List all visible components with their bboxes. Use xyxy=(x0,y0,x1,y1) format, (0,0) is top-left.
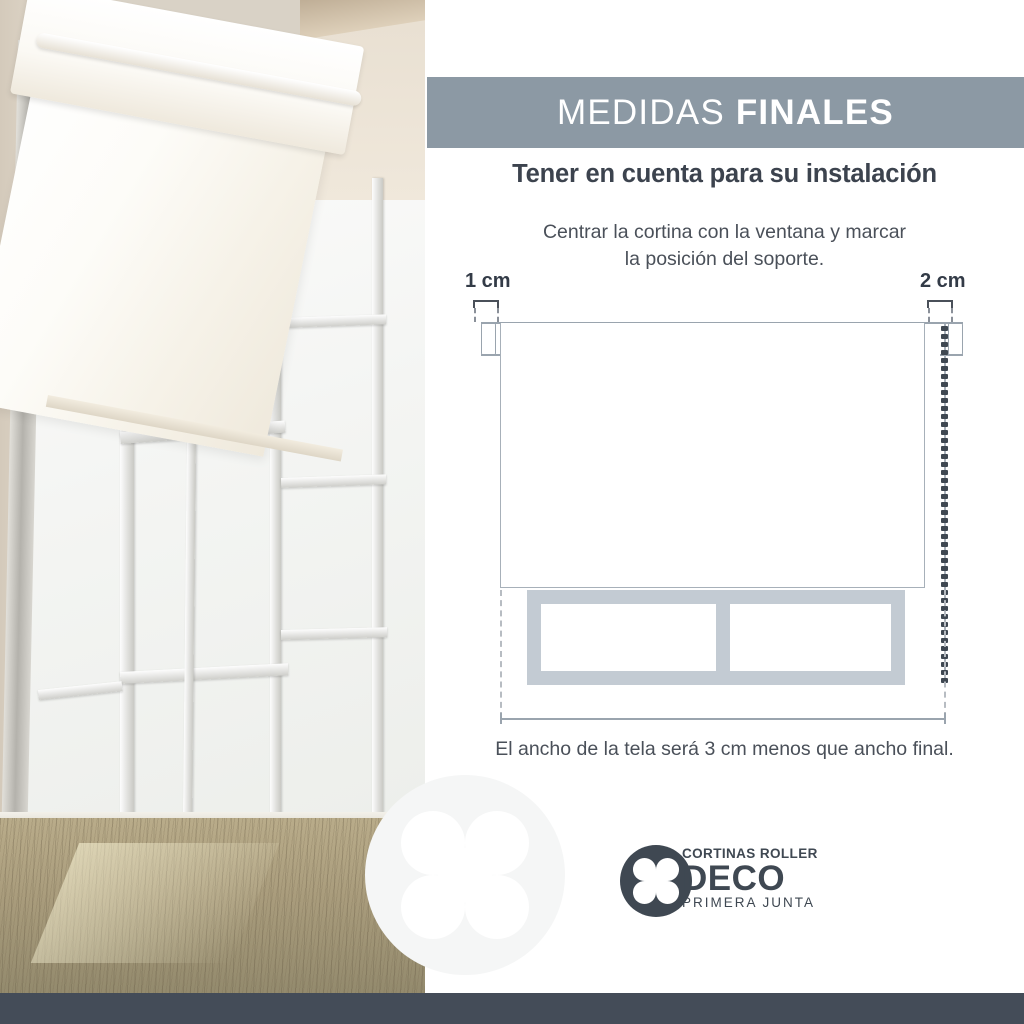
bracket-left-icon xyxy=(481,322,496,356)
footer-caption: El ancho de la tela será 3 cm menos que … xyxy=(425,738,1024,761)
extent-line-right xyxy=(944,590,946,718)
promo-card: MEDIDAS FINALES Tener en cuenta para su … xyxy=(0,0,1024,1024)
photo-floor-sunlight xyxy=(31,843,279,963)
title-light-part: MEDIDAS xyxy=(557,93,725,132)
info-panel: MEDIDAS FINALES Tener en cuenta para su … xyxy=(425,0,1024,993)
logo-line-main: DECO xyxy=(682,861,837,897)
dimension-tick-left xyxy=(473,300,499,308)
page-title: MEDIDAS FINALES xyxy=(557,93,894,133)
photo-floor xyxy=(0,818,425,993)
subtitle: Tener en cuenta para su instalación xyxy=(425,160,1024,189)
lead-line-1: Centrar la cortina con la ventana y marc… xyxy=(425,219,1024,246)
overall-width-tick-left xyxy=(500,713,502,724)
product-photo xyxy=(0,0,425,993)
brand-logo: CORTINAS ROLLER DECO PRIMERA JUNTA xyxy=(620,845,835,917)
blind-fabric xyxy=(500,323,925,588)
title-bold-part: FINALES xyxy=(736,93,894,132)
window-center-mullion xyxy=(716,590,730,685)
leader-line xyxy=(474,308,476,322)
logo-wordmark: CORTINAS ROLLER DECO PRIMERA JUNTA xyxy=(682,845,837,910)
logo-line-bottom: PRIMERA JUNTA xyxy=(682,896,837,910)
leader-line xyxy=(497,308,499,322)
bracket-right-icon xyxy=(948,322,963,356)
header-banner: MEDIDAS FINALES xyxy=(427,77,1024,148)
extent-line-left xyxy=(500,590,502,718)
dimension-label-right: 2 cm xyxy=(920,270,966,293)
bottom-bar xyxy=(0,993,1024,1024)
overall-width-tick-right xyxy=(944,713,946,724)
dimension-tick-right xyxy=(927,300,953,308)
installation-diagram: 1 cm 2 cm xyxy=(425,262,1024,742)
dimension-label-left: 1 cm xyxy=(465,270,511,293)
photo-mullion-vertical xyxy=(372,178,383,878)
leader-line xyxy=(928,308,930,322)
leader-line xyxy=(951,308,953,322)
overall-width-line xyxy=(500,718,946,720)
